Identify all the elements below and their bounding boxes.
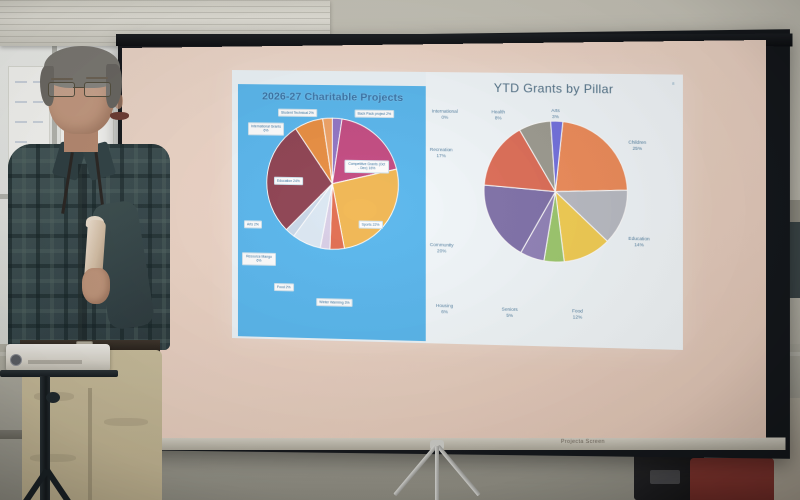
right-chart-title: YTD Grants by Pillar bbox=[430, 80, 679, 97]
photo-scene: Projecta Screen 8 2026-27 Charitable Pro… bbox=[0, 0, 800, 500]
right-label-education: Education 14% bbox=[628, 236, 649, 249]
projector-lens bbox=[10, 354, 22, 366]
right-label-seniors-value: 5% bbox=[506, 313, 513, 318]
projector-stand-top bbox=[0, 370, 118, 377]
right-label-arts: Arts 3% bbox=[551, 108, 559, 121]
left-chart-title: 2026-27 Charitable Projects bbox=[246, 90, 420, 104]
tripod-leg-left bbox=[393, 445, 437, 497]
left-label-arts: Arts 2% bbox=[244, 220, 262, 229]
left-label-education: Education 24% bbox=[274, 177, 303, 186]
right-label-seniors: Seniors 5% bbox=[502, 307, 518, 320]
right-label-children-value: 25% bbox=[632, 146, 642, 151]
right-label-education-value: 14% bbox=[634, 242, 644, 247]
right-label-recreation-value: 17% bbox=[436, 153, 445, 158]
projected-slide: 8 2026-27 Charitable Projects Student Te… bbox=[232, 70, 683, 350]
right-label-community-value: 20% bbox=[437, 248, 446, 253]
right-label-food: Food 12% bbox=[572, 308, 583, 321]
red-chair bbox=[690, 458, 774, 500]
right-label-international-value: 0% bbox=[441, 115, 448, 120]
right-label-housing-value: 6% bbox=[441, 309, 448, 314]
right-label-food-value: 12% bbox=[573, 315, 583, 320]
glasses-icon bbox=[48, 82, 112, 95]
right-label-recreation: Recreation 17% bbox=[430, 147, 453, 160]
right-label-health-value: 8% bbox=[495, 116, 502, 121]
right-label-arts-value: 3% bbox=[552, 114, 559, 119]
right-label-housing: Housing 6% bbox=[436, 303, 453, 316]
left-label-food: Food 2% bbox=[274, 283, 294, 292]
projector-stand-knob bbox=[46, 392, 60, 403]
projector-vent bbox=[28, 360, 82, 364]
screen-brand-label: Projecta Screen bbox=[561, 439, 605, 445]
right-label-health: Health 8% bbox=[491, 109, 505, 122]
left-label-student-technical: Student Technical 2% bbox=[278, 109, 317, 118]
presenter-eyebrow-left bbox=[51, 78, 73, 80]
presenter-hand bbox=[82, 268, 110, 304]
presenter bbox=[4, 52, 180, 500]
tripod-leg-right bbox=[436, 445, 480, 497]
left-label-resource-mango: Resource Mango 6% bbox=[242, 252, 276, 265]
presenter-eyebrow-right bbox=[86, 77, 108, 79]
left-label-international: International Grants 6% bbox=[248, 122, 284, 135]
tripod-leg-center bbox=[435, 446, 439, 500]
left-label-backpack: Back Pack project 2% bbox=[355, 110, 395, 119]
screen-tripod bbox=[378, 440, 498, 500]
left-label-sports: Sports 22% bbox=[359, 220, 383, 229]
equipment-case-highlight bbox=[650, 470, 680, 484]
right-label-children: Children 25% bbox=[628, 140, 646, 153]
left-label-competitive-grants: Competitive Grants (Oct - Dec) 16% bbox=[344, 160, 389, 173]
pant-seam bbox=[88, 388, 92, 500]
left-label-winter-warming: Winter Warming 3% bbox=[316, 298, 352, 307]
right-label-international: International 0% bbox=[432, 108, 458, 121]
right-label-community: Community 20% bbox=[430, 242, 454, 255]
